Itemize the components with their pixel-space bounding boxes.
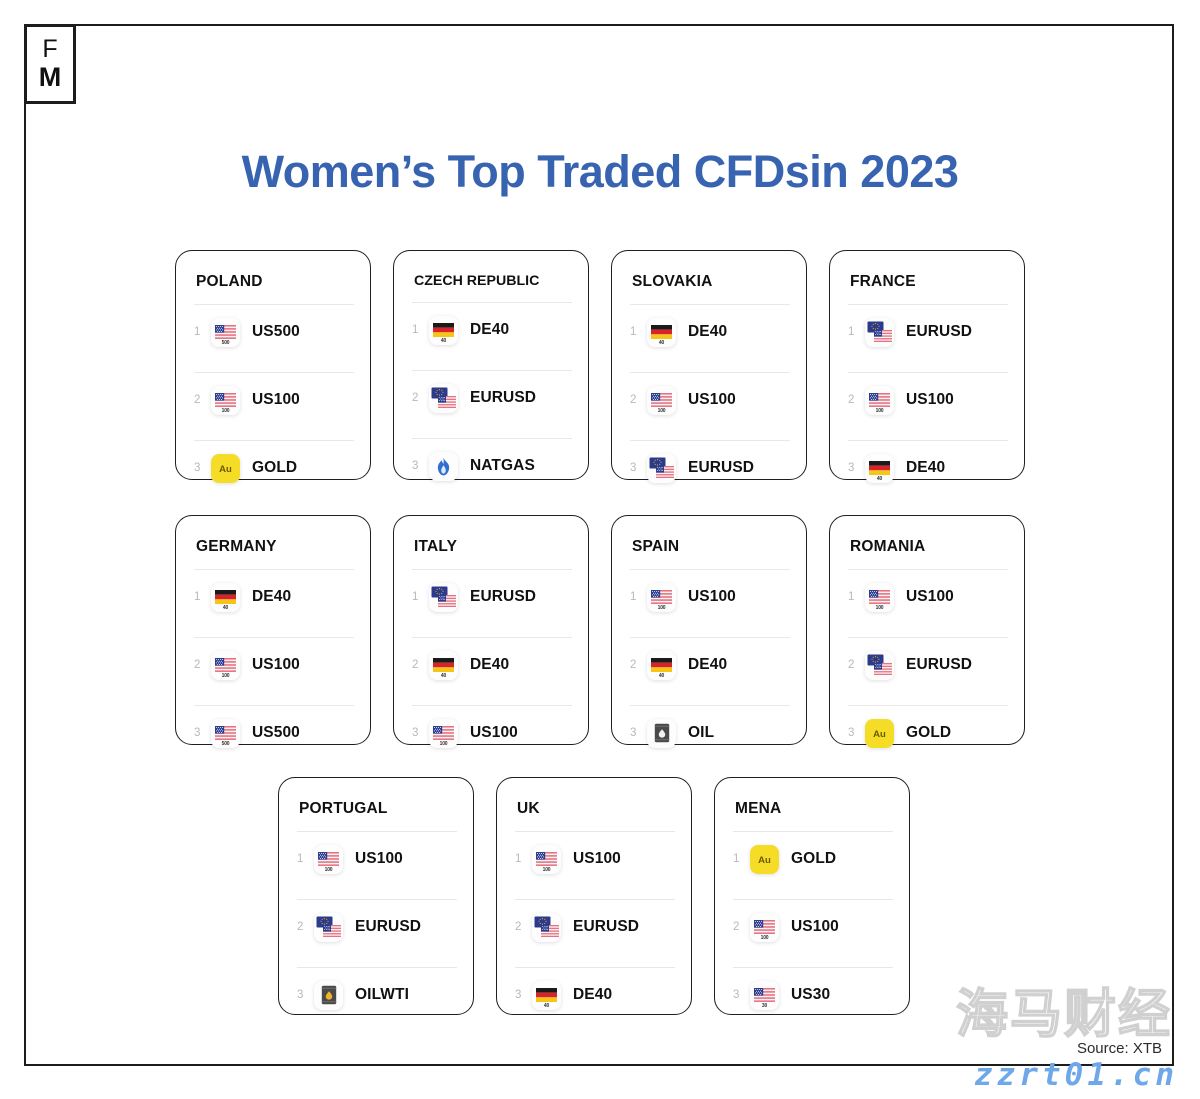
- country-card: SPAIN1100US100240DE403OIL: [611, 515, 807, 745]
- cfd-row[interactable]: 3AuGOLD: [846, 706, 1008, 760]
- cfd-rank: 2: [412, 659, 429, 671]
- instrument-badge: 30: [750, 1004, 779, 1009]
- cfd-row[interactable]: 3AuGOLD: [192, 441, 354, 495]
- de-flag-icon: 40: [865, 454, 894, 483]
- country-card: GERMANY140DE402100US1003500US500: [175, 515, 371, 745]
- cfd-label: EURUSD: [470, 588, 536, 606]
- instrument-badge: 40: [647, 341, 676, 346]
- cfd-label: NATGAS: [470, 457, 535, 475]
- country-card: ITALY1EURUSD240DE403100US100: [393, 515, 589, 745]
- cfd-label: US100: [906, 391, 954, 409]
- cfd-rank: 2: [630, 659, 647, 671]
- instrument-badge: 100: [429, 742, 458, 747]
- cfd-rank: 3: [733, 989, 750, 1001]
- country-card: UK1100US1002EURUSD340DE40: [496, 777, 692, 1015]
- instrument-badge: 100: [647, 606, 676, 611]
- eurusd-icon: [865, 651, 894, 680]
- instrument-badge: 100: [865, 409, 894, 414]
- cfd-rank: 1: [194, 591, 211, 603]
- cfd-row[interactable]: 140DE40: [192, 570, 354, 624]
- cfd-row[interactable]: 1AuGOLD: [731, 832, 893, 886]
- cfd-label: DE40: [688, 323, 727, 341]
- cfd-row[interactable]: 340DE40: [846, 441, 1008, 495]
- us-flag-icon: 30: [750, 981, 779, 1010]
- cfd-rank: 3: [412, 460, 429, 472]
- cfd-rank: 1: [733, 853, 750, 865]
- country-card-title: MENA: [735, 800, 893, 818]
- us-flag-icon: 100: [865, 386, 894, 415]
- country-card-title: UK: [517, 800, 675, 818]
- instrument-badge: 40: [429, 339, 458, 344]
- instrument-badge: 40: [429, 674, 458, 679]
- card-row-1: POLAND1500US5002100US1003AuGOLDCZECH REP…: [175, 250, 1025, 480]
- de-flag-icon: 40: [429, 316, 458, 345]
- eurusd-icon: [532, 913, 561, 942]
- cfd-label: OILWTI: [355, 986, 409, 1004]
- de-flag-icon: 40: [532, 981, 561, 1010]
- cfd-row[interactable]: 140DE40: [628, 305, 790, 359]
- us-flag-icon: 100: [647, 583, 676, 612]
- cfd-rank: 3: [194, 462, 211, 474]
- eurusd-icon: [429, 583, 458, 612]
- instrument-badge: 100: [532, 868, 561, 873]
- country-card-title: POLAND: [196, 273, 354, 291]
- cfd-rank: 2: [194, 394, 211, 406]
- cfd-row[interactable]: 2EURUSD: [295, 900, 457, 954]
- cfd-label: US100: [252, 391, 300, 409]
- cfd-rank: 2: [630, 394, 647, 406]
- cfd-label: DE40: [573, 986, 612, 1004]
- fm-logo: F M: [24, 24, 76, 104]
- svg-text:Au: Au: [758, 855, 771, 866]
- cfd-row[interactable]: 3OILWTI: [295, 968, 457, 1022]
- cfd-row[interactable]: 1100US100: [295, 832, 457, 886]
- cfd-label: US100: [252, 656, 300, 674]
- cfd-rank: 2: [848, 394, 865, 406]
- cfd-row[interactable]: 2100US100: [192, 638, 354, 692]
- instrument-badge: 40: [532, 1004, 561, 1009]
- cfd-rank: 3: [630, 462, 647, 474]
- cfd-row[interactable]: 1EURUSD: [410, 570, 572, 624]
- country-card: CZECH REPUBLIC140DE402EURUSD3NATGAS: [393, 250, 589, 480]
- cfd-row[interactable]: 240DE40: [410, 638, 572, 692]
- cfd-rank: 3: [194, 727, 211, 739]
- eurusd-icon: [865, 318, 894, 347]
- cfd-label: GOLD: [906, 724, 951, 742]
- country-card-title: GERMANY: [196, 538, 354, 556]
- cfd-row[interactable]: 240DE40: [628, 638, 790, 692]
- cfd-rank: 3: [630, 727, 647, 739]
- cfd-row[interactable]: 1500US500: [192, 305, 354, 359]
- cfd-row[interactable]: 3500US500: [192, 706, 354, 760]
- cfd-label: US100: [688, 588, 736, 606]
- cfd-row[interactable]: 1EURUSD: [846, 305, 1008, 359]
- country-card-title: CZECH REPUBLIC: [414, 273, 572, 289]
- cfd-label: US100: [470, 724, 518, 742]
- cfd-rank: 3: [515, 989, 532, 1001]
- instrument-badge: 40: [647, 674, 676, 679]
- country-card-title: ITALY: [414, 538, 572, 556]
- cfd-row[interactable]: 2100US100: [192, 373, 354, 427]
- instrument-badge: 100: [865, 606, 894, 611]
- us-flag-icon: 100: [647, 386, 676, 415]
- cfd-row[interactable]: 2100US100: [846, 373, 1008, 427]
- cfd-rank: 2: [412, 392, 429, 404]
- gold-icon: Au: [750, 845, 779, 874]
- cfd-row[interactable]: 340DE40: [513, 968, 675, 1022]
- card-row-2: GERMANY140DE402100US1003500US500ITALY1EU…: [175, 515, 1025, 745]
- gold-icon: Au: [211, 454, 240, 483]
- cfd-label: OIL: [688, 724, 714, 742]
- instrument-badge: 100: [211, 409, 240, 414]
- cfd-row[interactable]: 1100US100: [513, 832, 675, 886]
- cfd-rank: 1: [515, 853, 532, 865]
- cfd-row[interactable]: 2EURUSD: [513, 900, 675, 954]
- de-flag-icon: 40: [647, 318, 676, 347]
- country-card: SLOVAKIA140DE402100US1003EURUSD: [611, 250, 807, 480]
- cfd-rank: 3: [297, 989, 314, 1001]
- cfd-rank: 1: [630, 326, 647, 338]
- cfd-row[interactable]: 1100US100: [846, 570, 1008, 624]
- us-flag-icon: 500: [211, 719, 240, 748]
- us-flag-icon: 100: [211, 386, 240, 415]
- cfd-label: EURUSD: [906, 323, 972, 341]
- svg-text:Au: Au: [219, 464, 232, 475]
- us-flag-icon: 100: [429, 719, 458, 748]
- country-card: PORTUGAL1100US1002EURUSD3OILWTI: [278, 777, 474, 1015]
- cfd-rank: 2: [848, 659, 865, 671]
- cfd-label: US100: [688, 391, 736, 409]
- logo-letter-f: F: [42, 37, 57, 62]
- de-flag-icon: 40: [429, 651, 458, 680]
- cfd-row[interactable]: 3NATGAS: [410, 439, 572, 493]
- cfd-rank: 2: [297, 921, 314, 933]
- cfd-label: GOLD: [252, 459, 297, 477]
- cfd-label: US500: [252, 724, 300, 742]
- cfd-label: US30: [791, 986, 830, 1004]
- cfd-row[interactable]: 140DE40: [410, 303, 572, 357]
- instrument-badge: 500: [211, 341, 240, 346]
- country-card: MENA1AuGOLD2100US100330US30: [714, 777, 910, 1015]
- oilwti-icon: [314, 981, 343, 1010]
- cfd-label: DE40: [252, 588, 291, 606]
- cfd-label: EURUSD: [573, 918, 639, 936]
- cfd-label: EURUSD: [688, 459, 754, 477]
- us-flag-icon: 100: [532, 845, 561, 874]
- cfd-label: US100: [906, 588, 954, 606]
- cfd-row[interactable]: 3EURUSD: [628, 441, 790, 495]
- natgas-icon: [429, 452, 458, 481]
- cfd-label: DE40: [470, 321, 509, 339]
- country-card: POLAND1500US5002100US1003AuGOLD: [175, 250, 371, 480]
- cfd-row[interactable]: 330US30: [731, 968, 893, 1022]
- cfd-row[interactable]: 2EURUSD: [410, 371, 572, 425]
- us-flag-icon: 100: [211, 651, 240, 680]
- instrument-badge: 40: [211, 606, 240, 611]
- cfd-label: US100: [355, 850, 403, 868]
- instrument-badge: 100: [211, 674, 240, 679]
- cfd-rank: 3: [848, 727, 865, 739]
- cfd-row[interactable]: 2EURUSD: [846, 638, 1008, 692]
- country-card: ROMANIA1100US1002EURUSD3AuGOLD: [829, 515, 1025, 745]
- cfd-rank: 1: [412, 591, 429, 603]
- svg-text:Au: Au: [873, 729, 886, 740]
- logo-letter-m: M: [39, 64, 62, 91]
- cfd-label: DE40: [906, 459, 945, 477]
- eurusd-icon: [314, 913, 343, 942]
- cfd-rank: 2: [733, 921, 750, 933]
- country-card: FRANCE1EURUSD2100US100340DE40: [829, 250, 1025, 480]
- us-flag-icon: 500: [211, 318, 240, 347]
- de-flag-icon: 40: [211, 583, 240, 612]
- gold-icon: Au: [865, 719, 894, 748]
- us-flag-icon: 100: [865, 583, 894, 612]
- cfd-rank: 1: [848, 591, 865, 603]
- cfd-label: DE40: [470, 656, 509, 674]
- instrument-badge: 500: [211, 742, 240, 747]
- country-card-title: SLOVAKIA: [632, 273, 790, 291]
- cfd-label: EURUSD: [906, 656, 972, 674]
- cfd-row[interactable]: 2100US100: [628, 373, 790, 427]
- card-row-3: PORTUGAL1100US1002EURUSD3OILWTIUK1100US1…: [278, 777, 910, 1015]
- source-label: Source: XTB: [1077, 1040, 1162, 1057]
- cfd-label: DE40: [688, 656, 727, 674]
- cfd-row[interactable]: 2100US100: [731, 900, 893, 954]
- cfd-label: GOLD: [791, 850, 836, 868]
- cfd-row[interactable]: 3OIL: [628, 706, 790, 760]
- country-card-title: SPAIN: [632, 538, 790, 556]
- cfd-rank: 1: [194, 326, 211, 338]
- cfd-label: EURUSD: [355, 918, 421, 936]
- de-flag-icon: 40: [647, 651, 676, 680]
- page-title: Women’s Top Traded CFDsin 2023: [0, 146, 1200, 198]
- cfd-rank: 3: [412, 727, 429, 739]
- cfd-rank: 2: [515, 921, 532, 933]
- instrument-badge: 100: [647, 409, 676, 414]
- us-flag-icon: 100: [750, 913, 779, 942]
- country-card-title: FRANCE: [850, 273, 1008, 291]
- cfd-label: US100: [573, 850, 621, 868]
- country-card-title: ROMANIA: [850, 538, 1008, 556]
- cfd-row[interactable]: 1100US100: [628, 570, 790, 624]
- oil-icon: [647, 719, 676, 748]
- eurusd-icon: [647, 454, 676, 483]
- cfd-rank: 1: [630, 591, 647, 603]
- cfd-row[interactable]: 3100US100: [410, 706, 572, 760]
- instrument-badge: 100: [750, 936, 779, 941]
- cfd-rank: 1: [848, 326, 865, 338]
- instrument-badge: 40: [865, 477, 894, 482]
- instrument-badge: 100: [314, 868, 343, 873]
- cfd-rank: 3: [848, 462, 865, 474]
- cfd-rank: 1: [297, 853, 314, 865]
- cfd-label: EURUSD: [470, 389, 536, 407]
- eurusd-icon: [429, 384, 458, 413]
- cfd-rank: 2: [194, 659, 211, 671]
- cfd-rank: 1: [412, 324, 429, 336]
- cfd-label: US500: [252, 323, 300, 341]
- us-flag-icon: 100: [314, 845, 343, 874]
- country-card-title: PORTUGAL: [299, 800, 457, 818]
- cfd-label: US100: [791, 918, 839, 936]
